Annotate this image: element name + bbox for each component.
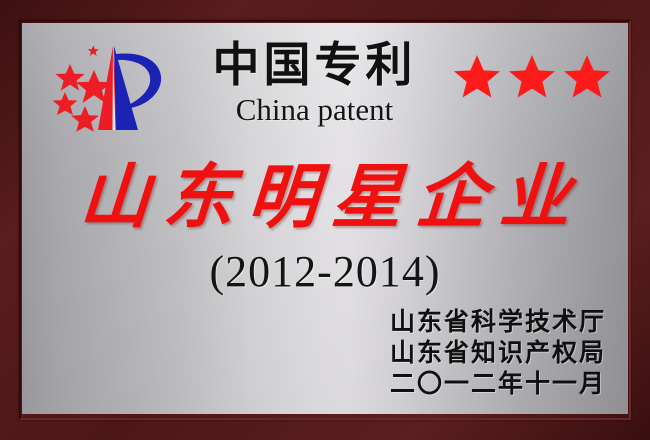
star-icon	[454, 54, 500, 98]
star-icon	[509, 54, 555, 98]
award-year-range: (2012-2014)	[22, 245, 628, 299]
award-title: 山东明星企业	[22, 156, 628, 238]
issuer-line-2: 山东省知识产权局	[390, 337, 606, 368]
china-patent-logo-icon	[50, 42, 168, 142]
wordmark-english: China patent	[182, 92, 447, 128]
star-icon	[564, 54, 610, 98]
header-row: 中国专利 China patent	[22, 40, 628, 148]
issuer-date: 二〇一二年十一月	[390, 368, 606, 399]
issuer-block: 山东省科学技术厅 山东省知识产权局 二〇一二年十一月	[390, 306, 606, 399]
three-stars-group	[454, 54, 614, 98]
award-plaque: 中国专利 China patent 山东明星企业 (2012-2014)	[0, 0, 650, 440]
issuer-line-1: 山东省科学技术厅	[390, 306, 606, 337]
china-patent-wordmark: 中国专利 China patent	[182, 40, 447, 128]
metal-plate: 中国专利 China patent 山东明星企业 (2012-2014)	[22, 23, 628, 414]
wordmark-chinese: 中国专利	[182, 40, 447, 92]
